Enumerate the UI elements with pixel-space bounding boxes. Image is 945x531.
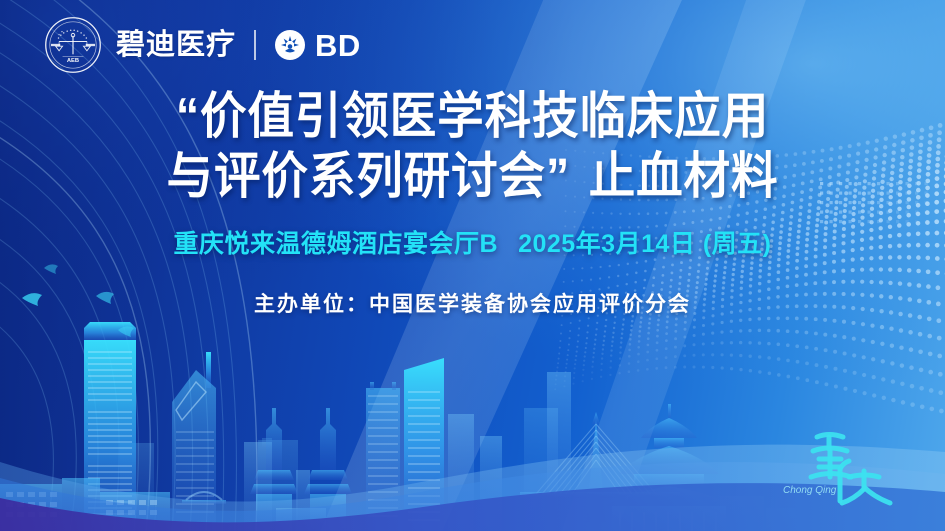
subtitle-line: 重庆悦来温德姆酒店宴会厅B2025年3月14日 (周五) xyxy=(0,224,945,260)
bd-logo: BD xyxy=(274,29,361,61)
title-line-1: “价值引领医学科技临床应用 xyxy=(33,88,912,144)
brand-name-cn: 碧迪医疗 xyxy=(116,31,236,60)
date-text: 2025年3月14日 (周五) xyxy=(518,230,771,258)
bd-wordmark: BD xyxy=(315,30,361,61)
event-banner: AEB 碧迪医疗 BD “价值引领医学科技临床应用 xyxy=(0,0,945,531)
seal-letters: AEB xyxy=(67,58,79,64)
association-seal-icon: AEB xyxy=(44,16,102,74)
host-organization: 主办单位：中国医学装备协会应用评价分会 xyxy=(0,288,945,318)
title-line-2-tag: 止血材料 xyxy=(589,148,779,204)
title-line-2-main: 与评价系列研讨会” xyxy=(167,148,571,204)
cable-stayed-bridge-icon xyxy=(520,412,680,522)
brand-header: AEB 碧迪医疗 BD xyxy=(44,16,361,74)
chongqing-pinyin: Chong Qing xyxy=(783,485,837,496)
chongqing-city-logo-icon: Chong Qing xyxy=(769,427,919,513)
title-line-2: 与评价系列研讨会”止血材料 xyxy=(33,148,912,204)
bd-sunburst-icon xyxy=(274,29,306,61)
title-block: “价值引领医学科技临床应用 与评价系列研讨会”止血材料 xyxy=(0,88,945,204)
brand-divider xyxy=(254,30,256,60)
chinese-pagoda-icon xyxy=(607,404,796,531)
venue-text: 重庆悦来温德姆酒店宴会厅B xyxy=(174,230,499,258)
